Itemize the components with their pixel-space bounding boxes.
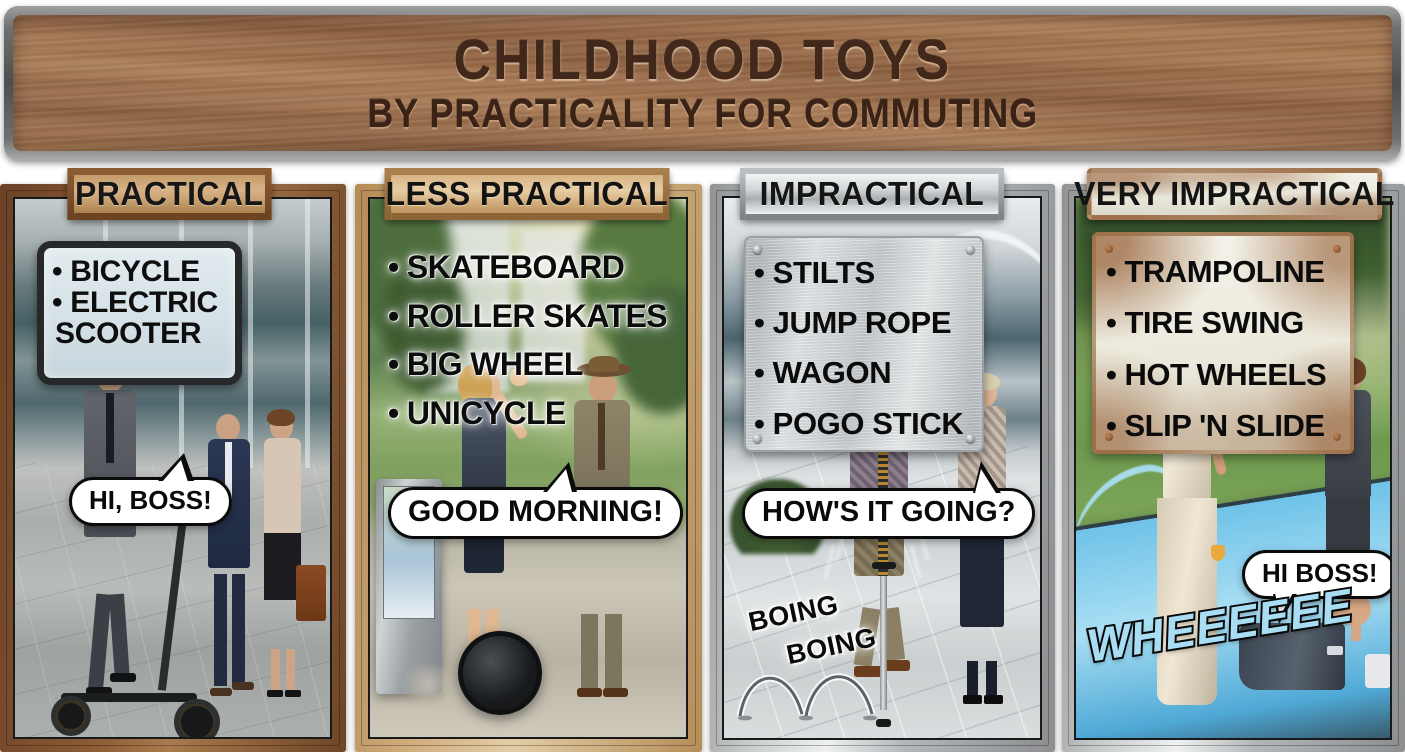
list-item: • UNICYCLE [388, 389, 688, 438]
title-banner: CHILDHOOD TOYS BY PRACTICALITY FOR COMMU… [4, 6, 1401, 160]
list-item: • WAGON [754, 348, 982, 398]
category-label-very-impractical[interactable]: VERY IMPRACTICAL [1087, 168, 1382, 220]
screw-icon [753, 434, 762, 443]
column-impractical[interactable]: • STILTS • JUMP ROPE • WAGON [710, 184, 1055, 752]
bullet-icon: • [52, 256, 62, 287]
bullet-icon: • [388, 340, 399, 389]
item-label: ROLLER SKATES [407, 298, 667, 334]
rivet-icon [1105, 433, 1113, 441]
bullet-icon: • [754, 298, 764, 348]
item-label: STILTS [773, 255, 875, 290]
speech-text: HI, BOSS! [89, 485, 212, 515]
item-sign-very-impractical: • TRAMPOLINE • TIRE SWING • HOT WHEELS [1092, 232, 1354, 454]
list-item: • JUMP ROPE [754, 298, 982, 348]
item-sign-impractical: • STILTS • JUMP ROPE • WAGON [744, 236, 984, 452]
item-label: ELECTRIC [70, 286, 218, 319]
item-label: TRAMPOLINE [1124, 254, 1324, 289]
speech-text: GOOD MORNING! [408, 495, 663, 528]
title-banner-wood-face: CHILDHOOD TOYS BY PRACTICALITY FOR COMMU… [13, 15, 1392, 151]
column-practical[interactable]: • BICYCLE • ELECTRIC SCOOTER [0, 184, 346, 752]
rivet-icon [1105, 245, 1113, 253]
rivet-icon [1333, 245, 1341, 253]
category-label-practical[interactable]: PRACTICAL [67, 168, 271, 220]
item-label: SLIP 'N SLIDE [1124, 408, 1324, 443]
list-item: • STILTS [754, 248, 982, 298]
bullet-icon: • [1106, 246, 1116, 297]
list-item: • SLIP 'N SLIDE [1106, 400, 1350, 451]
category-label-impractical[interactable]: IMPRACTICAL [740, 168, 1004, 220]
column-less-practical[interactable]: • SKATEBOARD • ROLLER SKATES • BIG WHEEL [355, 184, 702, 752]
list-item: • BIG WHEEL [388, 340, 688, 389]
item-list-very-impractical: • TRAMPOLINE • TIRE SWING • HOT WHEELS [1106, 246, 1350, 452]
speech-balloon-impractical: HOW'S IT GOING? [742, 488, 1035, 539]
item-label-wrap: SCOOTER [52, 318, 231, 349]
bullet-icon: • [1106, 400, 1116, 451]
item-label: SKATEBOARD [407, 249, 624, 285]
panel-photo-practical: • BICYCLE • ELECTRIC SCOOTER [13, 197, 332, 739]
panel-frame-wood-light: • SKATEBOARD • ROLLER SKATES • BIG WHEEL [355, 184, 702, 752]
panel-frame-metal-2: • TRAMPOLINE • TIRE SWING • HOT WHEELS [1062, 184, 1405, 752]
bullet-icon: • [754, 348, 764, 398]
item-list-less-practical: • SKATEBOARD • ROLLER SKATES • BIG WHEEL [388, 243, 688, 438]
item-label: HOT WHEELS [1124, 357, 1326, 392]
list-item: • POGO STICK [754, 399, 982, 449]
speech-balloon-practical: HI, BOSS! [69, 477, 232, 526]
bullet-icon: • [52, 287, 62, 318]
page-title: CHILDHOOD TOYS [454, 32, 952, 88]
bullet-icon: • [1106, 297, 1116, 348]
panel-photo-impractical: • STILTS • JUMP ROPE • WAGON [722, 196, 1042, 740]
bullet-icon: • [754, 248, 764, 298]
item-label: TIRE SWING [1124, 305, 1303, 340]
column-very-impractical[interactable]: • TRAMPOLINE • TIRE SWING • HOT WHEELS [1062, 184, 1405, 752]
balloon-tail-fill [547, 469, 572, 492]
item-sign-practical: • BICYCLE • ELECTRIC SCOOTER [37, 241, 242, 385]
balloon-tail-fill [162, 460, 188, 482]
list-item: • ROLLER SKATES [388, 292, 688, 341]
dust-cloud [395, 665, 461, 705]
category-label-text: PRACTICAL [75, 175, 263, 213]
screw-icon [966, 434, 975, 443]
list-item: • BICYCLE [52, 256, 231, 287]
bullet-icon: • [388, 243, 399, 292]
list-item: • SKATEBOARD [388, 243, 688, 292]
balloon-tail-fill [975, 469, 996, 493]
category-label-text: IMPRACTICAL [760, 175, 985, 213]
category-label-text: VERY IMPRACTICAL [1074, 175, 1395, 213]
electric-scooter [53, 506, 248, 732]
list-item: • ELECTRIC SCOOTER [52, 287, 231, 349]
category-columns: • BICYCLE • ELECTRIC SCOOTER [0, 168, 1405, 752]
speech-balloon-less-practical: GOOD MORNING! [388, 487, 683, 539]
speech-text: HOW'S IT GOING? [762, 496, 1015, 528]
infographic-canvas: CHILDHOOD TOYS BY PRACTICALITY FOR COMMU… [0, 0, 1405, 752]
panel-photo-less-practical: • SKATEBOARD • ROLLER SKATES • BIG WHEEL [368, 197, 688, 739]
bullet-icon: • [388, 292, 399, 341]
panel-photo-very-impractical: • TRAMPOLINE • TIRE SWING • HOT WHEELS [1074, 196, 1392, 740]
panel-frame-wood-dark: • BICYCLE • ELECTRIC SCOOTER [0, 184, 346, 752]
screw-icon [966, 245, 975, 254]
panel-frame-metal: • STILTS • JUMP ROPE • WAGON [710, 184, 1055, 752]
list-item: • TIRE SWING [1106, 297, 1350, 348]
item-sign-less-practical: • SKATEBOARD • ROLLER SKATES • BIG WHEEL [388, 243, 688, 438]
bullet-icon: • [388, 389, 399, 438]
item-label: BICYCLE [70, 255, 200, 288]
item-label: POGO STICK [773, 406, 964, 441]
item-label: WAGON [773, 355, 892, 390]
rivet-icon [1333, 433, 1341, 441]
list-item: • HOT WHEELS [1106, 349, 1350, 400]
item-label: UNICYCLE [407, 395, 566, 431]
figure-colleague-female [258, 414, 310, 694]
list-item: • TRAMPOLINE [1106, 246, 1350, 297]
item-label: JUMP ROPE [773, 305, 951, 340]
item-label: BIG WHEEL [407, 346, 583, 382]
screw-icon [753, 245, 762, 254]
category-label-text: LESS PRACTICAL [386, 175, 669, 213]
page-subtitle: BY PRACTICALITY FOR COMMUTING [367, 94, 1038, 134]
category-label-less-practical[interactable]: LESS PRACTICAL [385, 168, 670, 220]
item-list-practical: • BICYCLE • ELECTRIC SCOOTER [52, 256, 231, 350]
bullet-icon: • [1106, 349, 1116, 400]
item-list-impractical: • STILTS • JUMP ROPE • WAGON [754, 248, 982, 449]
